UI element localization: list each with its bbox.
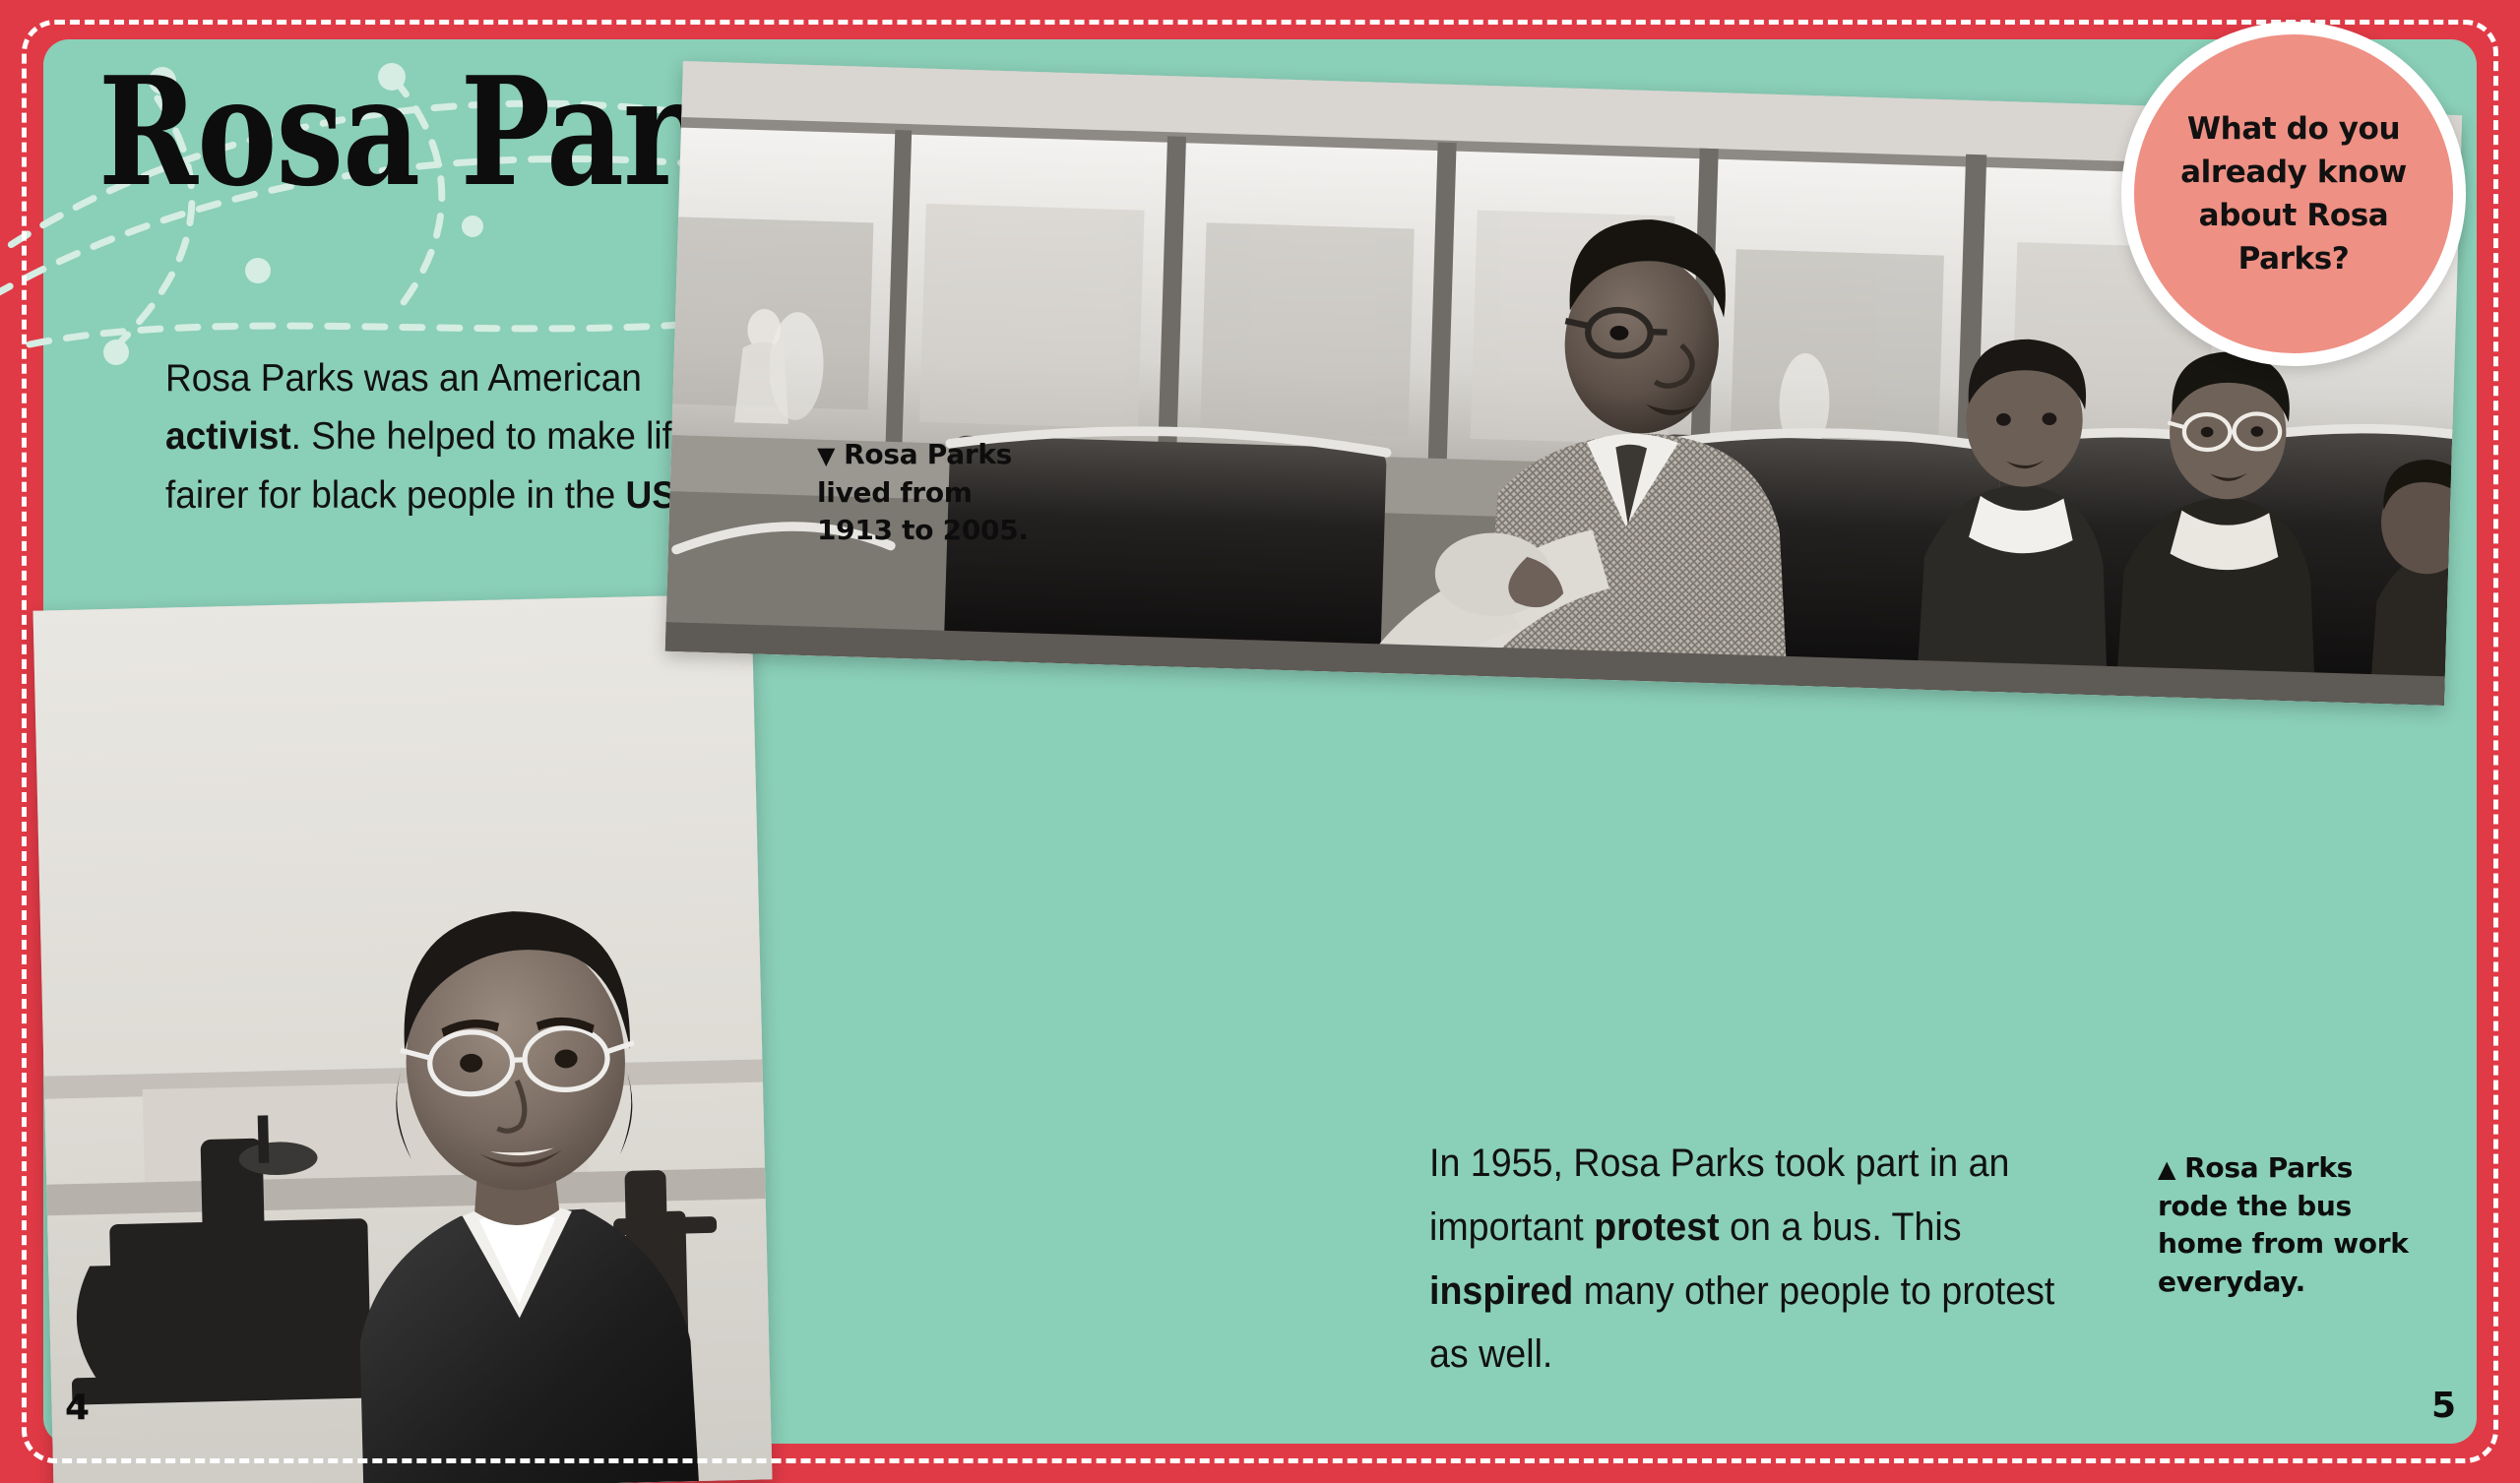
body-text-2: on a bus. This <box>1720 1205 1962 1249</box>
page-number-left: 4 <box>65 1388 90 1428</box>
book-spread-page: Rosa Parks Rosa Parks was an American ac… <box>0 0 2520 1483</box>
body-paragraph-right: In 1955, Rosa Parks took part in an impo… <box>1429 1132 2077 1387</box>
callout-question-text: What do you already know about Rosa Park… <box>2134 107 2453 280</box>
triangle-down-icon: ▼ <box>817 442 835 469</box>
page-number-right: 5 <box>2431 1386 2456 1426</box>
photo-rosa-parks-portrait <box>32 594 772 1483</box>
intro-text-1: Rosa Parks was an American <box>165 357 642 400</box>
intro-paragraph: Rosa Parks was an American activist. She… <box>165 349 726 525</box>
triangle-up-icon: ▲ <box>2158 1155 2175 1183</box>
intro-bold-activist: activist <box>165 415 291 458</box>
caption-rosa-parks-lifespan: ▼Rosa Parks lived from 1913 to 2005. <box>817 436 1053 550</box>
caption-rosa-parks-bus-ride: ▲Rosa Parks rode the bus home from work … <box>2158 1149 2424 1302</box>
body-bold-protest: protest <box>1594 1205 1719 1249</box>
caption-right-text: Rosa Parks rode the bus home from work e… <box>2158 1151 2409 1298</box>
body-bold-inspired: inspired <box>1429 1269 1573 1313</box>
photo-portrait-image <box>32 594 772 1483</box>
caption-left-text: Rosa Parks lived from 1913 to 2005. <box>817 438 1029 546</box>
callout-question-bubble: What do you already know about Rosa Park… <box>2121 22 2466 366</box>
